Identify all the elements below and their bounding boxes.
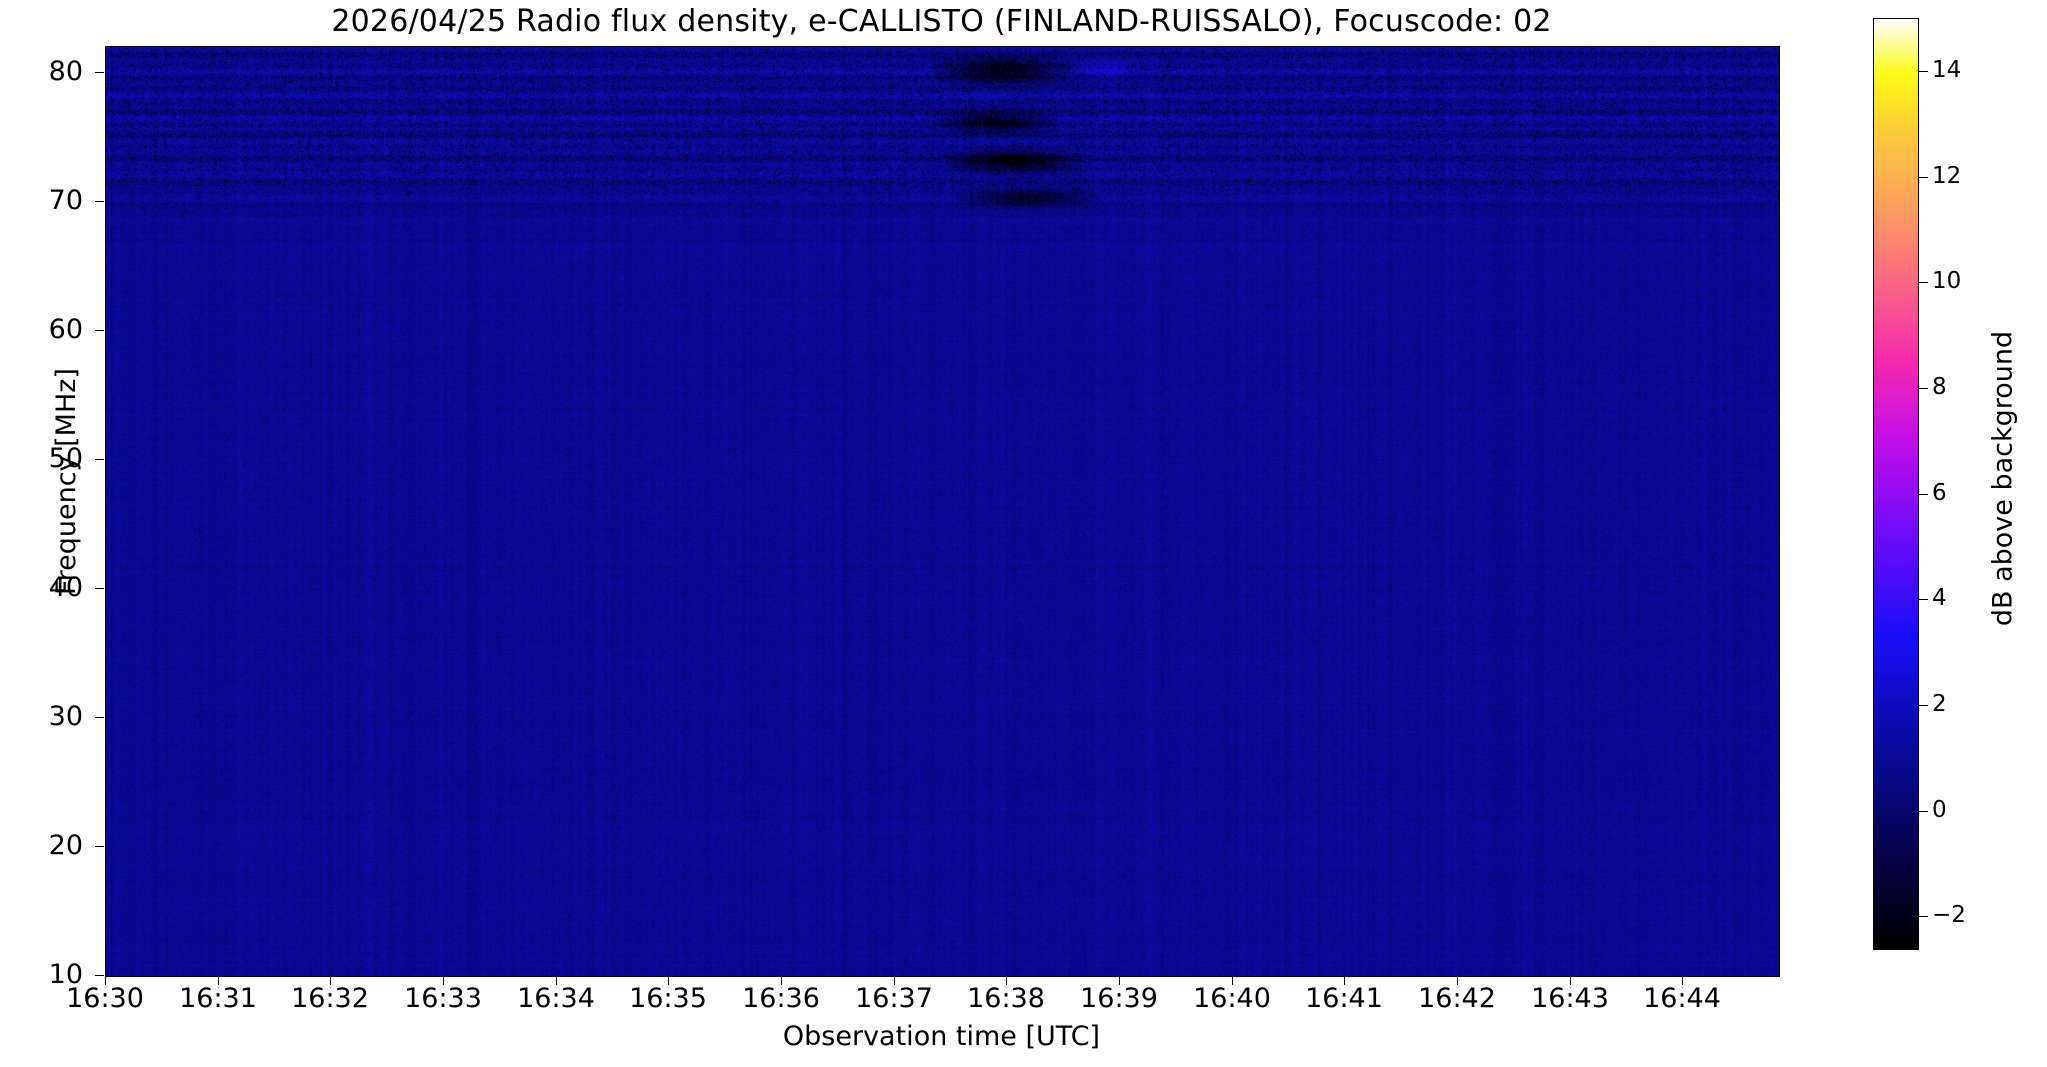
x-axis-label: Observation time [UTC] [105,1021,1778,1052]
y-tick-mark [95,588,104,589]
colorbar-tick-label: 14 [1932,59,1992,82]
y-tick-mark [95,975,104,976]
colorbar-tick-mark [1919,494,1928,495]
colorbar-tick-mark [1919,282,1928,283]
colorbar-gradient [1874,19,1918,949]
spectrogram-figure: 2026/04/25 Radio flux density, e-CALLIST… [0,0,2047,1067]
colorbar-tick-mark [1919,811,1928,812]
y-tick-mark [95,72,104,73]
y-tick-mark [95,330,104,331]
x-tick-label: 16:44 [1612,984,1752,1014]
spectrogram-plot-area [105,46,1780,977]
colorbar-tick-label: 0 [1932,799,1992,822]
colorbar-tick-label: 2 [1932,693,1992,716]
y-tick-mark [95,201,104,202]
colorbar-tick-mark [1919,177,1928,178]
y-tick-mark [95,717,104,718]
spectrogram-image [106,47,1779,976]
colorbar-tick-label: −2 [1932,904,1992,927]
colorbar [1873,18,1919,950]
colorbar-tick-label: 8 [1932,376,1992,399]
colorbar-tick-label: 10 [1932,270,1992,293]
figure-title: 2026/04/25 Radio flux density, e-CALLIST… [105,4,1778,40]
y-tick-mark [95,846,104,847]
colorbar-tick-mark [1919,71,1928,72]
colorbar-tick-label: 6 [1932,482,1992,505]
colorbar-tick-label: 4 [1932,587,1992,610]
colorbar-tick-mark [1919,705,1928,706]
y-tick-mark [95,459,104,460]
y-axis-label: Frequency [MHz] [51,17,82,946]
colorbar-tick-mark [1919,916,1928,917]
colorbar-tick-mark [1919,388,1928,389]
colorbar-tick-mark [1919,599,1928,600]
colorbar-label: dB above background [1988,14,2019,944]
colorbar-tick-label: 12 [1932,165,1992,188]
